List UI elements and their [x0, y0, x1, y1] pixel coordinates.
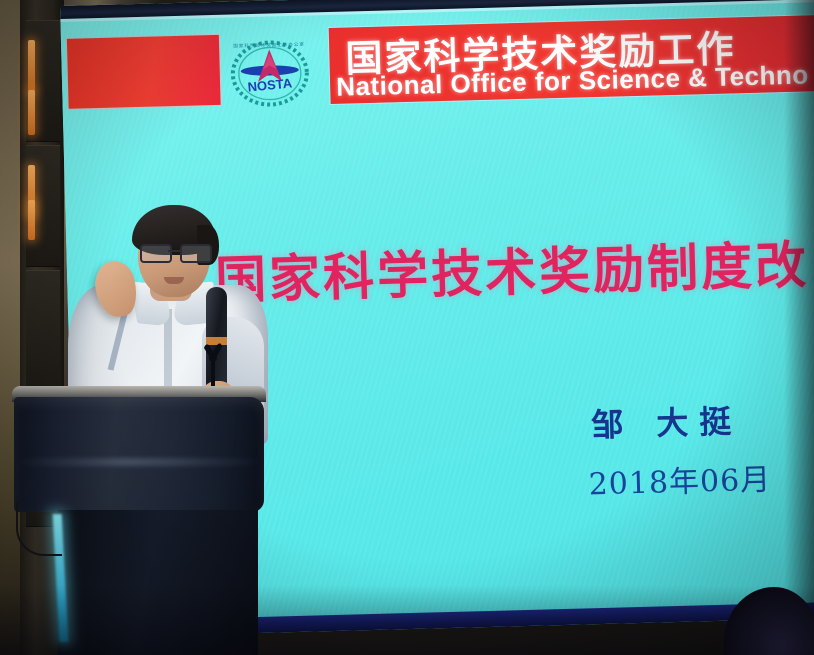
podium-cable: [16, 502, 62, 556]
glasses-lens-left: [140, 244, 172, 263]
glasses-icon: [140, 244, 210, 260]
photo-scene: NOSTA 国家科学技术奖励工作办公室 国家科学技术奖励工作 National …: [0, 0, 814, 655]
slide-header: NOSTA 国家科学技术奖励工作办公室 国家科学技术奖励工作 National …: [61, 8, 814, 115]
wall-light-4: [28, 200, 35, 240]
glasses-lens-right: [180, 244, 212, 263]
svg-text:NOSTA: NOSTA: [247, 75, 293, 94]
wall-panel-3: [26, 270, 60, 392]
wall-light-2: [28, 90, 35, 135]
nosta-emblem-icon: NOSTA 国家科学技术奖励工作办公室: [221, 36, 319, 110]
podium-front-panel: [14, 397, 264, 512]
podium-base: [58, 510, 258, 655]
podium-highlight: [16, 458, 262, 466]
slide-date: 2018年06月: [588, 455, 772, 504]
slide-title: 国家科学技术奖励制度改: [214, 223, 810, 313]
podium: [12, 386, 266, 655]
wall-light-1: [28, 40, 35, 92]
slide-author: 邹 大挺: [591, 396, 743, 446]
header-red-block: [67, 35, 221, 109]
header-red-bar: 国家科学技术奖励工作 National Office for Science &…: [329, 14, 814, 104]
glasses-bridge: [168, 250, 180, 252]
